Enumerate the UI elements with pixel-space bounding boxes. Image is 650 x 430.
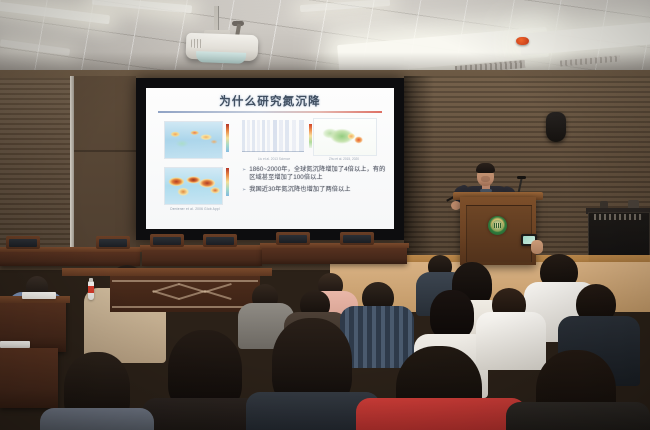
bullet-marker-icon: ➢ bbox=[242, 186, 246, 194]
emblem-glyph-icon bbox=[494, 223, 501, 228]
desk-row bbox=[262, 246, 407, 264]
china-nitrogen-map bbox=[313, 118, 377, 156]
china-map-colorbar bbox=[309, 124, 312, 148]
bullet-marker-icon: ➢ bbox=[242, 166, 246, 174]
audience-torso-foreground bbox=[40, 408, 154, 430]
map-colorbar bbox=[226, 124, 229, 152]
hand-holding-phone bbox=[531, 240, 543, 254]
desk-row bbox=[142, 248, 262, 266]
wall-panel-seam bbox=[74, 150, 136, 152]
desk-row bbox=[0, 348, 58, 408]
audience-torso-foreground bbox=[506, 402, 650, 430]
wall-speaker bbox=[546, 112, 566, 142]
panel-trim-line bbox=[112, 280, 258, 282]
bullet-text: 我国近30年氮沉降也增加了两倍以上 bbox=[249, 186, 350, 194]
fire-alarm-icon bbox=[516, 37, 529, 45]
audience-torso-foreground bbox=[356, 398, 526, 430]
list-item: ➢ 我国近30年氮沉降也增加了两倍以上 bbox=[242, 186, 388, 194]
deposition-trend-chart bbox=[242, 120, 304, 152]
projector-mount-pole bbox=[214, 6, 219, 32]
audience-torso bbox=[476, 312, 546, 370]
chart-axis bbox=[242, 151, 304, 152]
av-rack-controls bbox=[594, 214, 642, 220]
slide-title: 为什么研究氮沉降 bbox=[146, 93, 394, 109]
left-wall-wood-panel bbox=[0, 78, 72, 260]
chair-pad bbox=[206, 237, 234, 245]
slide-bullet-list: ➢ 1860~2000年，全球氮沉降增加了4倍以上，有的区域甚至增加了100倍以… bbox=[242, 166, 388, 197]
chair-pad bbox=[9, 239, 37, 247]
map-colorbar bbox=[226, 168, 229, 196]
panel-trim-line bbox=[112, 306, 258, 308]
projector-vent bbox=[191, 39, 202, 48]
world-nitrogen-map-2000 bbox=[164, 167, 223, 205]
list-item: ➢ 1860~2000年，全球氮沉降增加了4倍以上，有的区域甚至增加了100倍以… bbox=[242, 166, 388, 183]
audience-head bbox=[430, 290, 474, 340]
notebook[interactable] bbox=[22, 292, 56, 299]
chair-pad bbox=[99, 239, 127, 247]
notebook[interactable] bbox=[0, 341, 30, 348]
chair-pad bbox=[343, 235, 371, 243]
bottle-label bbox=[88, 286, 94, 293]
figure-caption-china: Zhu et al. 2015, 2020 bbox=[309, 157, 379, 161]
presentation-slide: 为什么研究氮沉降 Dentener et al. 2006 Glob Appl … bbox=[146, 88, 394, 229]
chair-pad bbox=[153, 237, 181, 245]
world-nitrogen-map-1860 bbox=[164, 121, 223, 159]
wall-shadow bbox=[404, 76, 434, 266]
speaker-face-shadow bbox=[481, 176, 490, 182]
desk-row bbox=[0, 250, 140, 266]
microphone-head-icon bbox=[517, 176, 526, 179]
lecture-hall-photo: 为什么研究氮沉降 Dentener et al. 2006 Glob Appl … bbox=[0, 0, 650, 430]
figure-caption-world: Dentener et al. 2006 Glob Appl bbox=[160, 207, 230, 211]
figure-caption-chart: Liu et al. 2013 Science bbox=[238, 157, 310, 161]
speaker-hair bbox=[476, 163, 495, 173]
desk-surface bbox=[62, 268, 272, 276]
bottle-cap bbox=[89, 278, 93, 282]
bullet-text: 1860~2000年，全球氮沉降增加了4倍以上，有的区域甚至增加了100倍以上 bbox=[249, 166, 388, 183]
slide-title-rule bbox=[158, 111, 382, 113]
chair-pad bbox=[279, 235, 307, 243]
left-wall-dark-panel bbox=[74, 76, 136, 262]
projector-lens bbox=[196, 51, 246, 64]
